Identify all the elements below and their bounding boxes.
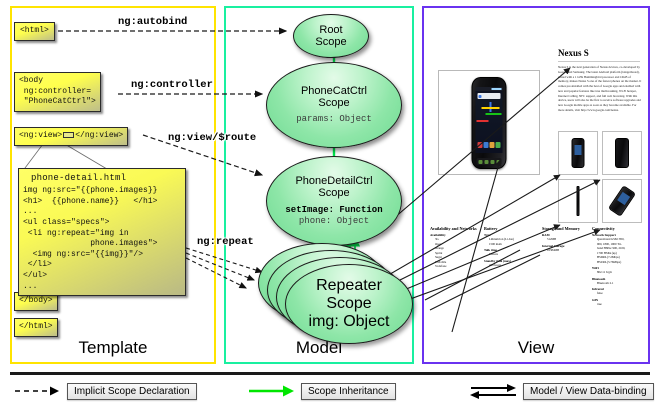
product-description: Nexus S is the next generation of Nexus … bbox=[558, 65, 642, 113]
scope-repeater-name-1: Repeater bbox=[316, 277, 382, 295]
spec-group-gps-values: true bbox=[592, 302, 644, 307]
spec-column-storage-header: Storage and Memory bbox=[542, 226, 594, 231]
phone-app-dock bbox=[478, 142, 501, 150]
spec-column-availability: Availability and Networks Availability 3… bbox=[430, 226, 482, 269]
phone-detail-code: img ng:src="{{phone.images}} <h1> {{phon… bbox=[19, 186, 185, 292]
ngview-close-tag: </ng:view> bbox=[75, 131, 123, 140]
legend-item-scope-inheritance: Scope Inheritance bbox=[248, 382, 396, 400]
spec-column-battery: Battery Type Lithium Ion (Li-Ion)1500 mA… bbox=[484, 226, 540, 267]
scope-phonedetailctrl-field-phone: phone: Object bbox=[299, 216, 369, 227]
spec-group-internal-storage-values: 16384MB bbox=[542, 248, 594, 253]
edge-label-route: ng:view/$route bbox=[168, 132, 256, 144]
product-title: Nexus S bbox=[558, 48, 640, 58]
phone-wallpaper-stripe-red bbox=[477, 120, 489, 122]
thumbnail-4-image bbox=[608, 185, 636, 217]
scope-phonedetailctrl: PhoneDetailCtrl Scope setImage: Function… bbox=[266, 156, 402, 246]
code-block-html-open: <html> bbox=[14, 22, 55, 41]
thumbnail-1-image bbox=[572, 138, 585, 168]
spec-group-battery-standby-values: 428 hours bbox=[484, 263, 540, 268]
spec-column-battery-header: Battery bbox=[484, 226, 540, 231]
phone-wallpaper-stripe-yellow bbox=[482, 107, 500, 109]
legend-item-implicit-scope-declaration: Implicit Scope Declaration bbox=[14, 382, 197, 400]
green-arrow-icon bbox=[248, 383, 294, 399]
spec-group-availability-values: 3GOpenOrangeSprintSugarT-MobileVodafone bbox=[430, 237, 482, 269]
spec-group-ram-values: 512MB bbox=[542, 237, 594, 242]
code-block-body-open: <body ng:controller= "PhoneCatCtrl"> bbox=[14, 72, 101, 112]
edge-label-autobind: ng:autobind bbox=[118, 16, 187, 28]
thumbnail-2-image bbox=[615, 138, 629, 168]
view-rendered-page: Nexus S Nexus S is the next generation o… bbox=[430, 48, 642, 303]
scope-phonecatctrl-name-1: PhoneCatCtrl bbox=[301, 85, 367, 97]
scope-root-name-1: Root bbox=[319, 24, 342, 36]
scope-root: Root Scope bbox=[293, 14, 369, 58]
legend-item-model-view-data-binding: Model / View Data-binding bbox=[470, 382, 654, 400]
legend-divider bbox=[10, 372, 650, 375]
phone-screen bbox=[476, 87, 503, 153]
spec-group-bluetooth-values: Bluetooth 2.1 bbox=[592, 281, 644, 286]
phone-hero-image bbox=[472, 77, 507, 169]
legend-label-implicit-scope-declaration: Implicit Scope Declaration bbox=[67, 383, 197, 400]
panel-model-label: Model bbox=[226, 338, 412, 358]
phone-search-widget bbox=[478, 93, 501, 99]
dashed-arrow-icon bbox=[14, 383, 60, 399]
phone-hardware-buttons bbox=[477, 158, 502, 165]
scope-repeater-name-2: Scope bbox=[326, 295, 371, 313]
thumbnail-3[interactable] bbox=[558, 179, 598, 223]
scope-phonedetailctrl-name-2: Scope bbox=[318, 187, 349, 199]
legend-label-scope-inheritance: Scope Inheritance bbox=[301, 383, 396, 400]
spec-column-storage: Storage and Memory RAM 512MB Internal St… bbox=[542, 226, 594, 252]
diagram-canvas: Template Model View <html> <body ng:cont… bbox=[0, 0, 660, 420]
code-block-html-close: </html> bbox=[14, 318, 58, 337]
ngview-open-tag: <ng:view> bbox=[19, 131, 62, 140]
ngview-placeholder-rect bbox=[63, 132, 74, 138]
double-arrow-icon bbox=[470, 383, 516, 399]
phone-detail-filename: phone-detail.html bbox=[19, 171, 185, 186]
scope-phonedetailctrl-field-setimage: setImage: Function bbox=[285, 205, 382, 216]
scope-phonecatctrl: PhoneCatCtrl Scope params: Object bbox=[266, 62, 402, 148]
phone-statusbar bbox=[476, 87, 503, 91]
spec-group-infrared-values: false bbox=[592, 291, 644, 296]
panel-view-label: View bbox=[424, 338, 648, 358]
thumbnail-2[interactable] bbox=[602, 131, 642, 175]
thumbnail-4[interactable] bbox=[602, 179, 642, 223]
spec-column-availability-header: Availability and Networks bbox=[430, 226, 482, 231]
edge-label-controller: ng:controller bbox=[131, 79, 213, 91]
scope-phonecatctrl-name-2: Scope bbox=[318, 97, 349, 109]
legend-label-model-view-data-binding: Model / View Data-binding bbox=[523, 383, 654, 400]
thumbnail-3-image bbox=[577, 186, 580, 216]
spec-column-connectivity-header: Connectivity bbox=[592, 226, 644, 231]
spec-column-connectivity: Connectivity Network Support Quad-band G… bbox=[592, 226, 644, 306]
scope-phonecatctrl-field-params: params: Object bbox=[296, 114, 372, 125]
phone-wallpaper-stripe-green bbox=[486, 113, 502, 115]
panel-template-label: Template bbox=[12, 338, 214, 358]
title-divider bbox=[558, 61, 640, 62]
scope-phonedetailctrl-name-1: PhoneDetailCtrl bbox=[295, 175, 372, 187]
scope-root-name-2: Scope bbox=[315, 36, 346, 48]
scope-phonedetailctrl-field-setimage-text: setImage: Function bbox=[285, 205, 382, 215]
scope-repeater-field-img: img: Object bbox=[309, 313, 390, 331]
spec-group-wifi-values: 802.11 b/g/n bbox=[592, 270, 644, 275]
scope-repeater: Repeater Scope img: Object bbox=[285, 264, 413, 344]
spec-group-battery-talktime-values: 6 hours bbox=[484, 252, 540, 257]
spec-group-battery-type-values: Lithium Ion (Li-Ion)1500 mAh bbox=[484, 237, 540, 246]
code-block-ngview: <ng:view></ng:view> bbox=[14, 127, 128, 146]
spec-group-network-values: Quad-band GSM: 850,900, 1800, 1900 Tri-b… bbox=[592, 237, 644, 264]
code-callout-phone-detail: phone-detail.html img ng:src="{{phone.im… bbox=[18, 168, 186, 296]
thumbnail-1[interactable] bbox=[558, 131, 598, 175]
phone-hero-image-frame bbox=[438, 70, 540, 175]
edge-label-repeat: ng:repeat bbox=[197, 236, 254, 248]
